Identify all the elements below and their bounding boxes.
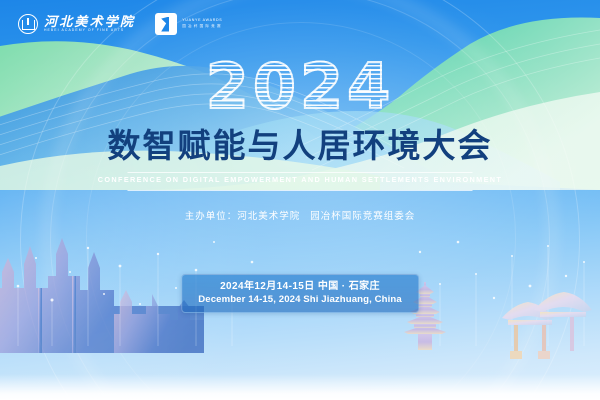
page-subtitle: CONFERENCE ON DIGITAL EMPOWERMENT AND HU… xyxy=(0,175,600,184)
yuanye-cup-icon xyxy=(155,13,177,35)
organizer-name-1: 河北美术学院 xyxy=(237,211,300,222)
title-rule-top xyxy=(128,172,473,173)
logo-yuanye-award[interactable]: YUANYE AWARDS 园冶杯国际竞赛 xyxy=(155,13,223,35)
conference-banner: 河北美术学院 HEBEI ACADEMY OF FINE ARTS YUANYE… xyxy=(0,0,600,400)
page-title: 数智赋能与人居环境大会 xyxy=(0,128,600,164)
organizer-line: 主办单位：河北美术学院园冶杯国际竞赛组委会 xyxy=(0,208,600,222)
title-rule-bottom xyxy=(128,190,473,191)
chinese-architecture-silhouette xyxy=(394,258,600,378)
logo-yuanye-name-en: YUANYE AWARDS xyxy=(182,19,223,23)
organizer-label: 主办单位： xyxy=(185,211,238,222)
event-date-plate: 2024年12月14-15日 中国 · 石家庄 December 14-15, … xyxy=(181,274,419,313)
seal-emblem-icon xyxy=(18,14,38,34)
chinese-pavilion-silhouette xyxy=(502,292,592,359)
organizer-name-2: 园冶杯国际竞赛组委会 xyxy=(310,211,415,222)
logo-hebei-academy-name-cn: 河北美术学院 xyxy=(44,15,135,28)
logo-hebei-academy-name-en: HEBEI ACADEMY OF FINE ARTS xyxy=(44,29,135,32)
event-date-en: December 14-15, 2024 Shi Jiazhuang, Chin… xyxy=(198,294,402,307)
event-date-cn: 2024年12月14-15日 中国 · 石家庄 xyxy=(198,280,402,294)
bottom-fade xyxy=(0,374,600,400)
logo-yuanye-name-cn: 园冶杯国际竞赛 xyxy=(182,25,223,29)
logo-hebei-academy[interactable]: 河北美术学院 HEBEI ACADEMY OF FINE ARTS xyxy=(18,14,135,34)
logo-bar: 河北美术学院 HEBEI ACADEMY OF FINE ARTS YUANYE… xyxy=(18,13,223,35)
